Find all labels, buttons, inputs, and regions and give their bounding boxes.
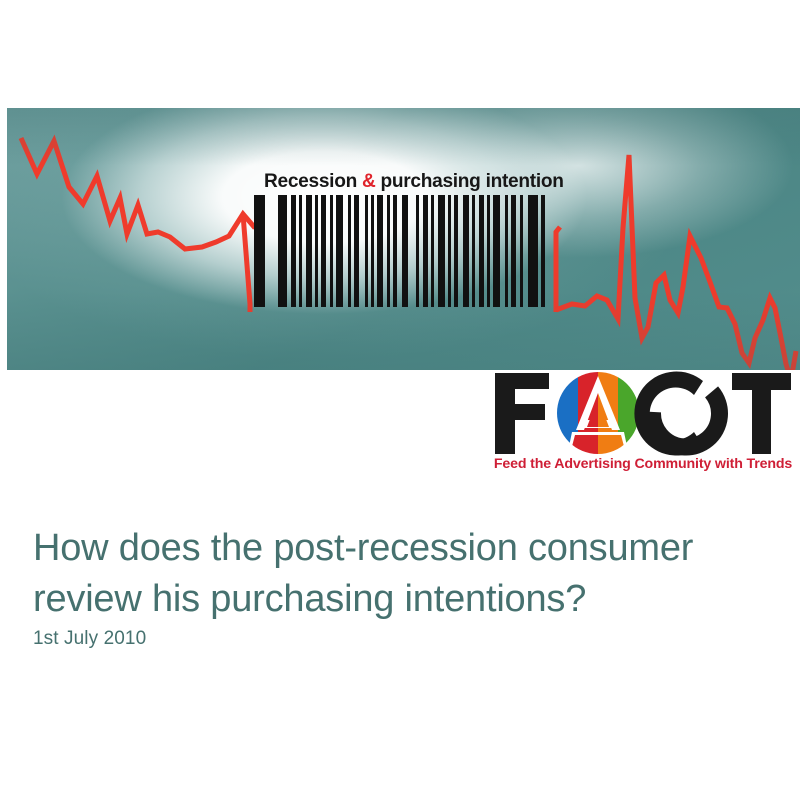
barcode-bar — [463, 195, 469, 307]
barcode-bar — [336, 195, 343, 307]
barcode-bar — [321, 195, 326, 307]
fact-wordmark — [489, 368, 795, 456]
barcode-title-part1: Recession — [264, 170, 362, 192]
barcode-bar — [402, 195, 408, 307]
barcode-bar — [278, 195, 287, 307]
barcode-bar — [291, 195, 296, 307]
barcode-bar — [423, 195, 428, 307]
fact-logo: Feed the Advertising Community with Tren… — [489, 368, 795, 480]
chart-line-right-riser — [556, 227, 560, 312]
barcode-bar — [299, 195, 302, 307]
logo-letter-t — [732, 373, 791, 454]
barcode-bars — [248, 195, 552, 307]
barcode-bar — [448, 195, 451, 307]
barcode-bar — [365, 195, 368, 307]
barcode-bar — [438, 195, 445, 307]
barcode-bar — [511, 195, 516, 307]
presentation-date: 1st July 2010 — [33, 628, 146, 650]
barcode-bar — [416, 195, 419, 307]
barcode-bar — [528, 195, 538, 307]
barcode-bar — [493, 195, 500, 307]
barcode-bar — [371, 195, 374, 307]
barcode-bar — [431, 195, 434, 307]
barcode-bar — [479, 195, 484, 307]
barcode-bar — [472, 195, 475, 307]
barcode-bar — [354, 195, 359, 307]
barcode-title-ampersand: & — [362, 170, 376, 192]
barcode-bar — [454, 195, 458, 307]
barcode-bar — [330, 195, 333, 307]
barcode-bar — [348, 195, 351, 307]
title-slide: Recession & purchasing intention — [0, 0, 800, 800]
barcode-bar — [505, 195, 508, 307]
page-title-line-1: How does the post-recession consumer — [33, 523, 753, 574]
barcode-title: Recession & purchasing intention — [264, 170, 550, 193]
barcode-bar — [254, 195, 265, 307]
logo-letter-a-mark — [557, 372, 640, 456]
barcode-bar — [315, 195, 318, 307]
chart-line-right — [556, 155, 796, 370]
logo-tagline: Feed the Advertising Community with Tren… — [490, 456, 796, 472]
barcode-bar — [487, 195, 490, 307]
page-title: How does the post-recession consumer rev… — [33, 523, 753, 625]
hero-banner: Recession & purchasing intention — [7, 108, 800, 370]
barcode-bar — [541, 195, 545, 307]
logo-letter-f — [495, 373, 549, 454]
barcode-title-part2: purchasing intention — [375, 170, 563, 192]
barcode-bar — [520, 195, 523, 307]
barcode-bar — [387, 195, 390, 307]
barcode-bar — [393, 195, 397, 307]
barcode-graphic: Recession & purchasing intention — [248, 160, 552, 310]
chart-line-left — [21, 138, 255, 249]
barcode-bar — [306, 195, 312, 307]
barcode-bar — [377, 195, 383, 307]
page-title-line-2: review his purchasing intentions? — [33, 574, 753, 625]
